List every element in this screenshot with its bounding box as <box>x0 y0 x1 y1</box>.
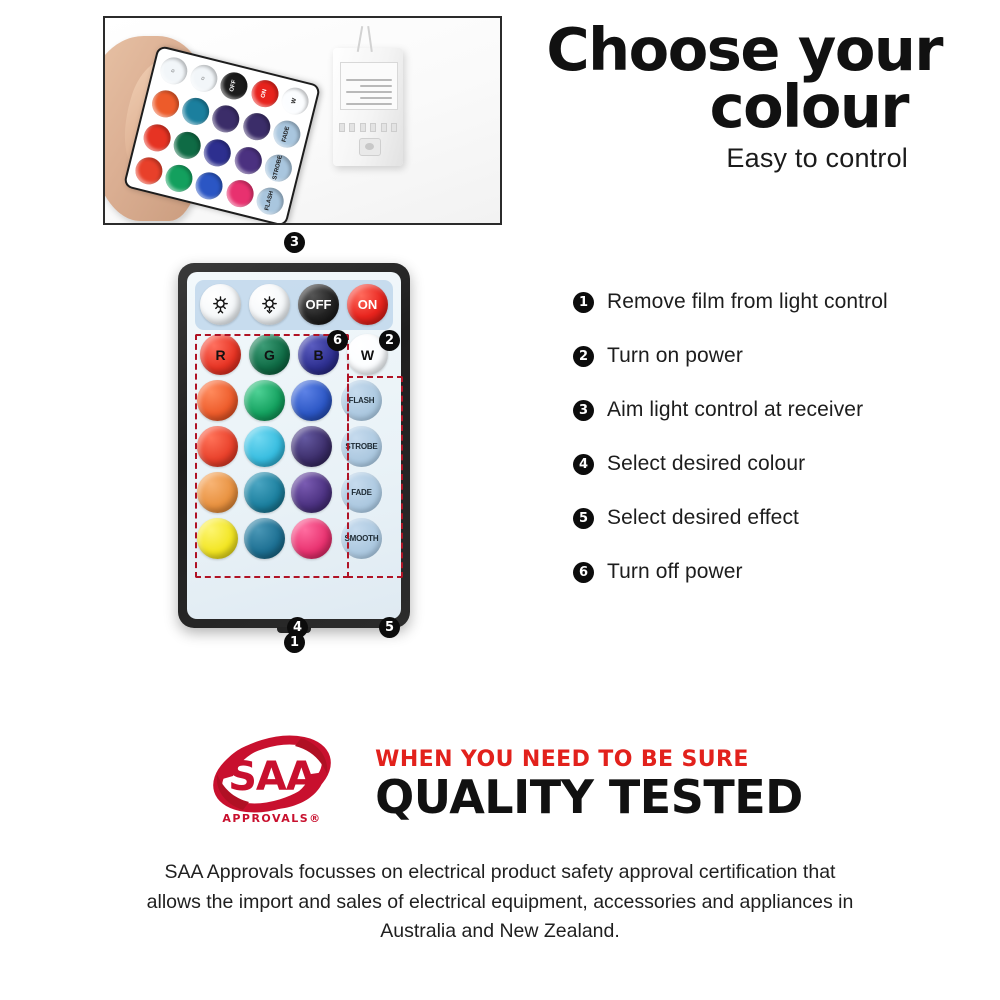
saa-headline: QUALITY TESTED <box>375 774 803 821</box>
list-item: 3 Aim light control at receiver <box>573 398 973 422</box>
svg-text:SAA: SAA <box>228 754 317 800</box>
photo-brightness-icon: ☼ <box>188 62 221 95</box>
red-button[interactable]: R <box>200 334 241 375</box>
colour-button[interactable] <box>244 426 285 467</box>
flash-button[interactable]: FLASH <box>341 380 382 421</box>
remote-control-body: OFF ON R G B W <box>178 263 410 628</box>
photo-remote-button <box>132 154 165 187</box>
saa-approvals-section: SAA APPROVALS® WHEN YOU NEED TO BE SURE … <box>0 728 1000 947</box>
colour-grid <box>197 380 332 559</box>
saa-logo-and-headline: SAA APPROVALS® WHEN YOU NEED TO BE SURE … <box>0 728 1000 836</box>
remote-diagram: 3 <box>160 230 430 660</box>
step-label: Turn off power <box>607 560 743 584</box>
photo-remote-button <box>171 129 204 162</box>
colour-button[interactable] <box>244 380 285 421</box>
photo-remote-button <box>141 121 174 154</box>
label-line <box>346 103 392 105</box>
photo-effect-button: FLASH <box>254 185 287 218</box>
remote-top-row: OFF ON <box>197 284 391 325</box>
step-number-badge: 2 <box>573 346 594 367</box>
remote-lower-zone: FLASH STROBE FADE SMOOTH <box>197 380 391 559</box>
photo-on-button: ON <box>249 77 282 110</box>
effects-column: FLASH STROBE FADE SMOOTH <box>341 380 382 559</box>
photo-w-button: W <box>279 85 312 118</box>
callout-badge-2: 2 <box>379 330 400 351</box>
controller-screw-port <box>359 138 381 156</box>
callout-badge-1: 1 <box>284 632 305 653</box>
photo-remote-button <box>201 136 234 169</box>
colour-button[interactable] <box>291 518 332 559</box>
heading-subtitle: Easy to control <box>540 143 980 174</box>
colour-button[interactable] <box>291 426 332 467</box>
heading-line-2: colour <box>540 79 980 136</box>
photo-brightness-icon: ☼ <box>157 55 190 88</box>
instruction-list: 1 Remove film from light control 2 Turn … <box>573 290 973 614</box>
saa-description-paragraph: SAA Approvals focusses on electrical pro… <box>0 858 1000 947</box>
list-item: 6 Turn off power <box>573 560 973 584</box>
callout-badge-5: 5 <box>379 617 400 638</box>
off-button[interactable]: OFF <box>298 284 339 325</box>
colour-button[interactable] <box>291 472 332 513</box>
photo-effect-button: FADE <box>271 118 304 151</box>
rgb-controller-box <box>333 48 403 166</box>
remote-rgbw-row: R G B W <box>197 334 391 375</box>
photo-remote-button <box>232 144 265 177</box>
callout-badge-6: 6 <box>327 330 348 351</box>
colour-button[interactable] <box>197 426 238 467</box>
page-heading: Choose your colour Easy to control <box>540 22 980 174</box>
step-number-badge: 1 <box>573 292 594 313</box>
product-photo-panel: ☼ ☼ OFF ON FLASH STROBE FADE W <box>103 16 502 225</box>
photo-remote-button <box>179 95 212 128</box>
brightness-down-icon[interactable] <box>249 284 290 325</box>
heading-line-1: Choose your <box>540 22 980 79</box>
label-line <box>360 85 392 87</box>
photo-remote-button <box>210 103 243 136</box>
step-number-badge: 4 <box>573 454 594 475</box>
colour-button[interactable] <box>244 518 285 559</box>
label-line <box>346 91 392 93</box>
remote-face: OFF ON R G B W <box>187 272 401 619</box>
photo-remote-button <box>163 162 196 195</box>
fade-button[interactable]: FADE <box>341 472 382 513</box>
photo-remote-button <box>240 111 273 144</box>
photo-effect-button: STROBE <box>262 151 295 184</box>
controller-label <box>340 62 398 110</box>
step-number-badge: 5 <box>573 508 594 529</box>
colour-button[interactable] <box>291 380 332 421</box>
step-label: Select desired colour <box>607 452 805 476</box>
step-label: Select desired effect <box>607 506 799 530</box>
colour-button[interactable] <box>244 472 285 513</box>
brightness-up-icon[interactable] <box>200 284 241 325</box>
list-item: 2 Turn on power <box>573 344 973 368</box>
saa-logo: SAA APPROVALS® <box>197 728 347 836</box>
photo-remote-button <box>193 169 226 202</box>
saa-headline-block: WHEN YOU NEED TO BE SURE QUALITY TESTED <box>375 743 803 821</box>
step-label: Remove film from light control <box>607 290 888 314</box>
list-item: 5 Select desired effect <box>573 506 973 530</box>
colour-button[interactable] <box>197 472 238 513</box>
photo-remote-button <box>224 177 257 210</box>
green-button[interactable]: G <box>249 334 290 375</box>
saa-tagline: WHEN YOU NEED TO BE SURE <box>375 747 803 772</box>
label-line <box>360 97 392 99</box>
photo-remote-button <box>149 88 182 121</box>
strobe-button[interactable]: STROBE <box>341 426 382 467</box>
photo-off-button: OFF <box>218 70 251 103</box>
list-item: 4 Select desired colour <box>573 452 973 476</box>
colour-button[interactable] <box>197 518 238 559</box>
step-number-badge: 6 <box>573 562 594 583</box>
saa-logo-subtext: APPROVALS® <box>222 812 321 825</box>
list-item: 1 Remove film from light control <box>573 290 973 314</box>
step-number-badge: 3 <box>573 400 594 421</box>
step-label: Aim light control at receiver <box>607 398 863 422</box>
on-button[interactable]: ON <box>347 284 388 325</box>
callout-badge-3: 3 <box>284 232 305 253</box>
smooth-button[interactable]: SMOOTH <box>341 518 382 559</box>
colour-button[interactable] <box>197 380 238 421</box>
controller-terminals <box>339 123 397 132</box>
step-label: Turn on power <box>607 344 743 368</box>
label-line <box>346 79 392 81</box>
